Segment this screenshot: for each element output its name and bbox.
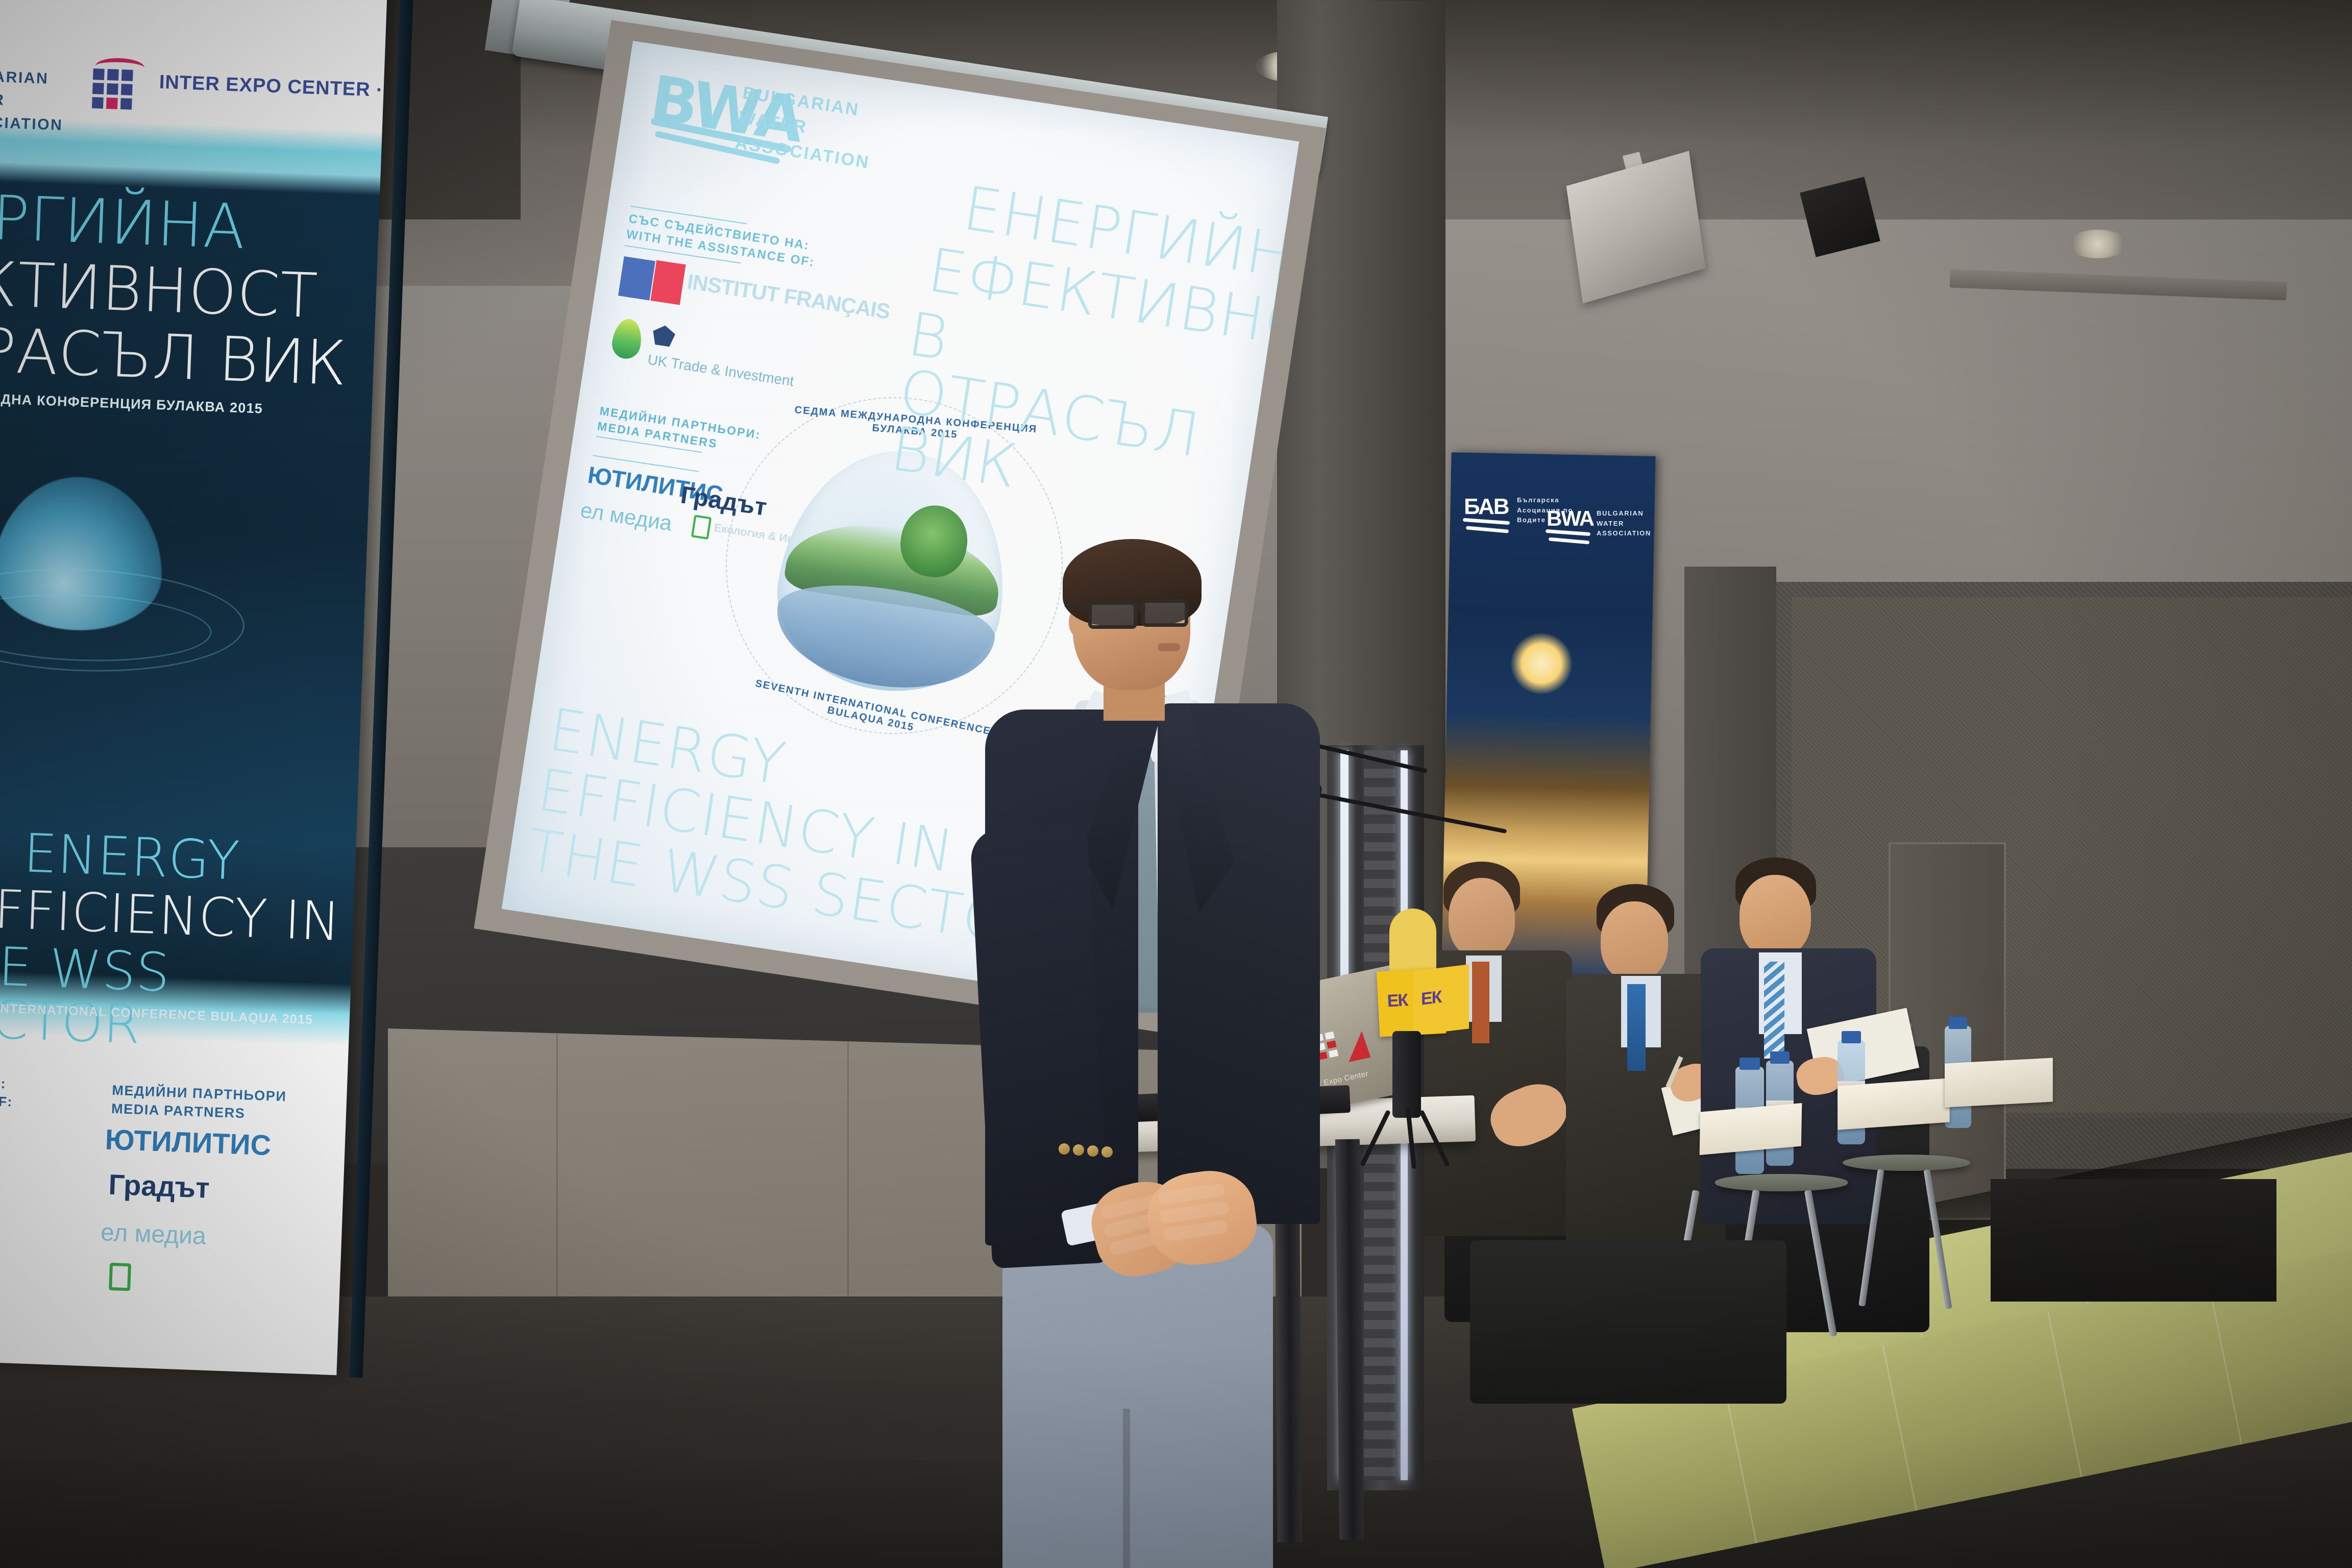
side-table [1843,1155,1970,1171]
panelist-2-tie [1627,984,1646,1071]
bottle-cap [1842,1031,1861,1043]
banner-title-bg-line3: В ОТРАСЪЛ ВИК [0,315,348,395]
bottle-cap [1770,1051,1790,1064]
bav-logo: БАВ [1464,494,1509,520]
screen-media-heading: МЕДИЙНИ ПАРТНЬОРИ: MEDIA PARTNERS [596,404,762,458]
name-placard [1837,1078,1949,1130]
speaker-cuff-buttons [1059,1143,1130,1157]
downlight-icon [2067,230,2128,258]
speaker-mouth [1158,643,1180,651]
green-drop-icon [610,317,644,360]
speaker-at-podium [954,541,1342,1552]
stage-riser [1470,1240,1786,1404]
panelist-1-head [1449,878,1515,959]
name-placard [1700,1103,1802,1155]
bottle-cap [1739,1058,1760,1070]
banner-ecology-icon [109,1263,131,1291]
banner-elmedia-logo: ел медиа [100,1218,206,1251]
banner-title-en-line1: ENERGY [22,826,240,887]
panelist-1-tie [1472,962,1489,1043]
glasses-lens-right-icon [1141,599,1188,627]
panelist-3-tie [1764,962,1784,1059]
name-placard [1945,1058,2053,1107]
elmedia-logo: ел медиа [579,498,674,535]
bwa-logo-right: BWA [1547,506,1594,531]
banner-media-heading: МЕДИЙНИ ПАРТНЬОРИ MEDIA PARTNERS [111,1081,287,1124]
iec-logo-icon [92,56,155,115]
uk-trade-label: UK Trade & Investment [646,351,795,390]
press-mic-flag-side: ЕК [1413,964,1469,1036]
institut-francais-logo: INSTITUT FRANÇAIS [686,271,891,322]
side-table [1715,1174,1848,1191]
sunset-glow [1511,633,1572,694]
iec-laptop-arrow-icon [1347,1030,1371,1062]
trouser-crease [1123,1409,1130,1568]
speaker-trousers [1002,1225,1273,1568]
speaker-sleeve [970,824,1110,1269]
bwa-name-right: BULGARIAN WATER ASSOCIATION [1597,508,1651,538]
french-flag-red [650,260,685,305]
iec-wordmark: INTER EXPO CENTER · IEC [159,71,388,103]
conference-hall-photo: BWA BULGARIAN WATER ASSOCIATION СЪС СЪДЕ… [0,0,2352,1568]
glasses-lens-left-icon [1088,601,1137,629]
banner-title-en-line3: THE WSS SECTOR [0,937,352,1059]
banner-gradat-logo: Градът [108,1168,210,1205]
banner-utilities-logo: ЮТИЛИТИС [105,1122,272,1162]
banner-title-bg-line2: ЕФЕКТИВНОСТ [0,249,318,328]
left-rollup-banner: BULGARIAN WATER ASSOCIATION INTER EXPO C… [0,0,388,1375]
microphone-stand [1392,1031,1421,1118]
glasses-bridge-icon [1134,606,1145,610]
panelist-2-head [1601,901,1668,981]
bottle-cap [1949,1017,1967,1029]
stage-shadow-block [1991,1179,2276,1302]
french-flag-blue [618,256,655,300]
banner-org-name: BULGARIAN WATER ASSOCIATION [0,63,65,137]
panelist-3-head [1739,875,1811,958]
ripple [0,563,247,677]
banner-title-bg-line1: ЕНЕРГИЙНА [0,183,247,258]
ecology-logo-icon [691,514,712,540]
banner-assistance-heading: СЪС СЪДЕЙСТВИЕТО НА: WITH THE ASSISTANCE… [0,1068,14,1111]
uk-crest-icon [651,324,676,347]
